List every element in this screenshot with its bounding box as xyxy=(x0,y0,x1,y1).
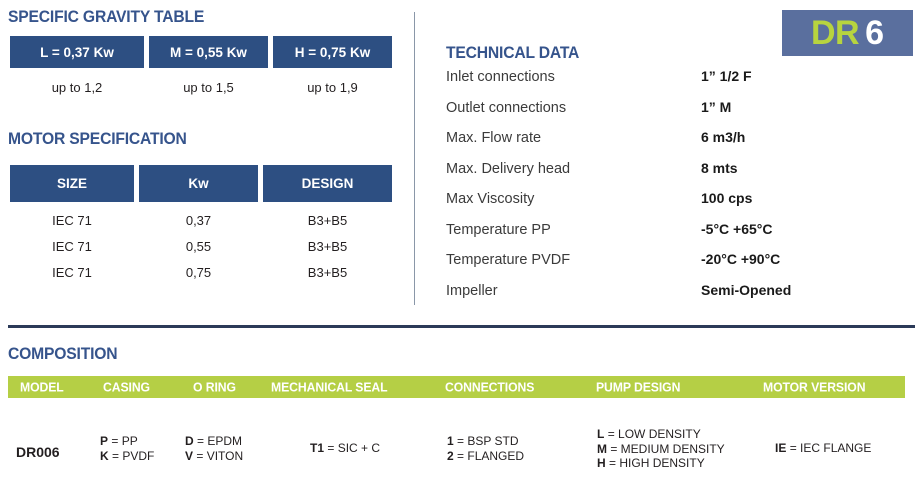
o-ring-code-1: V xyxy=(185,449,193,463)
casing-code-0: P xyxy=(100,434,108,448)
list-item: L = LOW DENSITY xyxy=(597,427,725,442)
column-divider xyxy=(414,12,415,305)
pump-design-code-2: H xyxy=(597,456,606,470)
list-item: K = PVDF xyxy=(100,449,154,464)
list-item: H = HIGH DENSITY xyxy=(597,456,725,471)
composition-mechanical-seal: T1 = SIC + C xyxy=(310,441,380,456)
tech-value: -20°C +90°C xyxy=(701,251,780,267)
tech-label: Inlet connections xyxy=(446,69,701,85)
o-ring-code-0: D xyxy=(185,434,194,448)
motor-specification-title: MOTOR SPECIFICATION xyxy=(8,130,187,149)
composition-title: COMPOSITION xyxy=(8,345,117,364)
technical-data-row: Temperature PP -5°C +65°C xyxy=(446,221,866,252)
technical-data-row: Impeller Semi-Opened xyxy=(446,282,866,313)
badge-prefix: DR xyxy=(811,16,859,50)
comp-header-o-ring: O RING xyxy=(193,380,236,395)
comp-header-connections: CONNECTIONS xyxy=(445,380,534,395)
casing-value-1: = PVDF xyxy=(112,449,154,463)
motor-header-kw: Kw xyxy=(139,165,258,202)
seal-code-0: T1 xyxy=(310,441,324,455)
composition-casing: P = PP K = PVDF xyxy=(100,434,154,463)
technical-data-row: Max. Delivery head 8 mts xyxy=(446,160,866,191)
comp-header-pump-design: PUMP DESIGN xyxy=(596,380,680,395)
casing-value-0: = PP xyxy=(111,434,137,448)
composition-header-bar: MODEL CASING O RING MECHANICAL SEAL CONN… xyxy=(8,376,905,398)
tech-label: Max. Flow rate xyxy=(446,130,701,146)
composition-pump-design: L = LOW DENSITY M = MEDIUM DENSITY H = H… xyxy=(597,427,725,471)
tech-value: Semi-Opened xyxy=(701,282,791,298)
motor-cell-size: IEC 71 xyxy=(10,239,134,254)
tech-value: 1” 1/2 F xyxy=(701,68,752,84)
pump-design-value-2: = HIGH DENSITY xyxy=(609,456,705,470)
comp-header-mechanical-seal: MECHANICAL SEAL xyxy=(271,380,388,395)
motor-version-code-0: IE xyxy=(775,441,786,455)
motor-cell-size: IEC 71 xyxy=(10,213,134,228)
motor-version-value-0: = IEC FLANGE xyxy=(790,441,872,455)
tech-value: 1” M xyxy=(701,99,731,115)
pump-design-code-1: M xyxy=(597,442,607,456)
technical-data-row: Inlet connections 1” 1/2 F xyxy=(446,68,866,99)
technical-data-row: Max. Flow rate 6 m3/h xyxy=(446,129,866,160)
comp-header-casing: CASING xyxy=(103,380,150,395)
tech-label: Temperature PP xyxy=(446,222,701,238)
composition-body: DR006 P = PP K = PVDF D = EPDM V = VITON xyxy=(0,406,923,476)
list-item: D = EPDM xyxy=(185,434,243,449)
list-item: V = VITON xyxy=(185,449,243,464)
tech-label: Impeller xyxy=(446,283,701,299)
motor-cell-design: B3+B5 xyxy=(263,265,392,280)
tech-value: 8 mts xyxy=(701,160,738,176)
tech-label: Max Viscosity xyxy=(446,191,701,207)
composition-o-ring: D = EPDM V = VITON xyxy=(185,434,243,463)
list-item: 2 = FLANGED xyxy=(447,449,524,464)
composition-connections: 1 = BSP STD 2 = FLANGED xyxy=(447,434,524,463)
list-item: M = MEDIUM DENSITY xyxy=(597,442,725,457)
motor-header-design: DESIGN xyxy=(263,165,392,202)
gravity-note-medium: up to 1,5 xyxy=(149,76,268,98)
tech-value: -5°C +65°C xyxy=(701,221,773,237)
list-item: T1 = SIC + C xyxy=(310,441,380,456)
pump-design-value-0: = LOW DENSITY xyxy=(608,427,701,441)
product-code-badge: DR 6 xyxy=(782,10,913,56)
technical-data-list: Inlet connections 1” 1/2 F Outlet connec… xyxy=(446,68,866,312)
motor-cell-kw: 0,55 xyxy=(139,239,258,254)
datasheet-page: SPECIFIC GRAVITY TABLE L = 0,37 Kw M = 0… xyxy=(0,0,923,500)
comp-header-model: MODEL xyxy=(20,380,64,395)
motor-cell-size: IEC 71 xyxy=(10,265,134,280)
casing-code-1: K xyxy=(100,449,109,463)
o-ring-value-1: = VITON xyxy=(196,449,243,463)
table-row: IEC 71 0,75 B3+B5 xyxy=(10,259,392,285)
connection-value-1: = FLANGED xyxy=(457,449,524,463)
pump-design-code-0: L xyxy=(597,427,604,441)
motor-cell-design: B3+B5 xyxy=(263,239,392,254)
tech-label: Outlet connections xyxy=(446,100,701,116)
motor-cell-kw: 0,37 xyxy=(139,213,258,228)
motor-header-size: SIZE xyxy=(10,165,134,202)
connection-code-1: 2 xyxy=(447,449,454,463)
motor-header-row: SIZE Kw DESIGN xyxy=(10,165,392,202)
gravity-note-high: up to 1,9 xyxy=(273,76,392,98)
gravity-note-low: up to 1,2 xyxy=(10,76,144,98)
technical-data-row: Outlet connections 1” M xyxy=(446,99,866,130)
model-code: DR006 xyxy=(16,444,60,460)
tech-label: Temperature PVDF xyxy=(446,252,701,268)
o-ring-value-0: = EPDM xyxy=(197,434,242,448)
list-item: P = PP xyxy=(100,434,154,449)
connection-code-0: 1 xyxy=(447,434,454,448)
table-row: IEC 71 0,37 B3+B5 xyxy=(10,207,392,233)
badge-number: 6 xyxy=(865,16,884,50)
gravity-cell-medium: M = 0,55 Kw xyxy=(149,36,268,68)
specific-gravity-note-row: up to 1,2 up to 1,5 up to 1,9 xyxy=(10,76,392,98)
tech-value: 6 m3/h xyxy=(701,129,745,145)
motor-table-body: IEC 71 0,37 B3+B5 IEC 71 0,55 B3+B5 IEC … xyxy=(10,207,392,285)
technical-data-title: TECHNICAL DATA xyxy=(446,44,579,63)
specific-gravity-header-row: L = 0,37 Kw M = 0,55 Kw H = 0,75 Kw xyxy=(10,36,392,68)
list-item: 1 = BSP STD xyxy=(447,434,524,449)
tech-label: Max. Delivery head xyxy=(446,161,701,177)
technical-data-row: Temperature PVDF -20°C +90°C xyxy=(446,251,866,282)
motor-cell-design: B3+B5 xyxy=(263,213,392,228)
comp-header-motor-version: MOTOR VERSION xyxy=(763,380,865,395)
seal-value-0: = SIC + C xyxy=(327,441,380,455)
section-divider xyxy=(8,325,915,328)
gravity-cell-high: H = 0,75 Kw xyxy=(273,36,392,68)
list-item: IE = IEC FLANGE xyxy=(775,441,871,456)
composition-model: DR006 xyxy=(16,444,60,460)
motor-cell-kw: 0,75 xyxy=(139,265,258,280)
table-row: IEC 71 0,55 B3+B5 xyxy=(10,233,392,259)
pump-design-value-1: = MEDIUM DENSITY xyxy=(610,442,724,456)
tech-value: 100 cps xyxy=(701,190,752,206)
technical-data-row: Max Viscosity 100 cps xyxy=(446,190,866,221)
gravity-cell-low: L = 0,37 Kw xyxy=(10,36,144,68)
connection-value-0: = BSP STD xyxy=(457,434,518,448)
specific-gravity-title: SPECIFIC GRAVITY TABLE xyxy=(8,8,204,27)
composition-motor-version: IE = IEC FLANGE xyxy=(775,441,871,456)
